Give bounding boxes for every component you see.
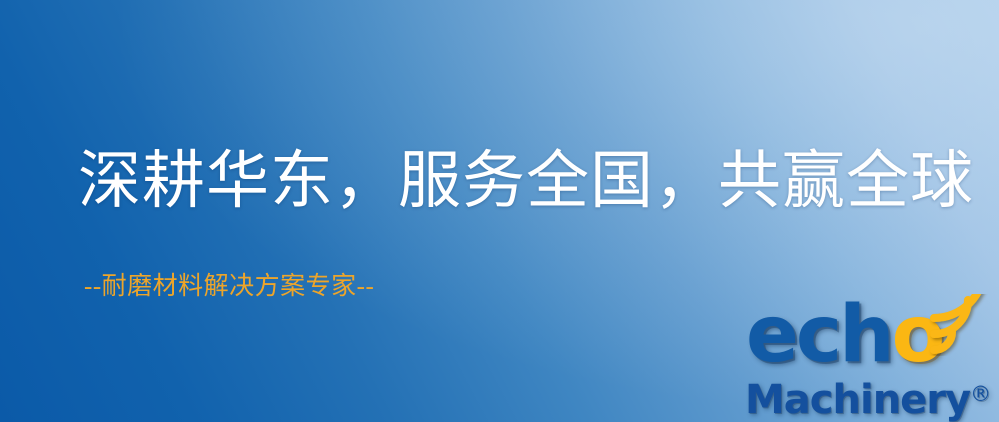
logo-tagline-text: Machinery	[745, 377, 970, 422]
echo-machinery-logo: echo Machinery®	[742, 296, 994, 418]
logo-word-ech: ech	[746, 290, 892, 380]
banner-headline: 深耕华东，服务全国，共赢全球	[78, 147, 958, 215]
logo-tagline: Machinery®	[745, 374, 991, 420]
logo-wordmark: echo	[746, 296, 942, 374]
promo-banner: 深耕华东，服务全国，共赢全球 --耐磨材料解决方案专家-- echo Machi…	[0, 0, 999, 422]
signal-waves-icon	[928, 294, 998, 356]
banner-subtitle: --耐磨材料解决方案专家--	[84, 266, 374, 302]
registered-trademark-icon: ®	[970, 382, 991, 406]
